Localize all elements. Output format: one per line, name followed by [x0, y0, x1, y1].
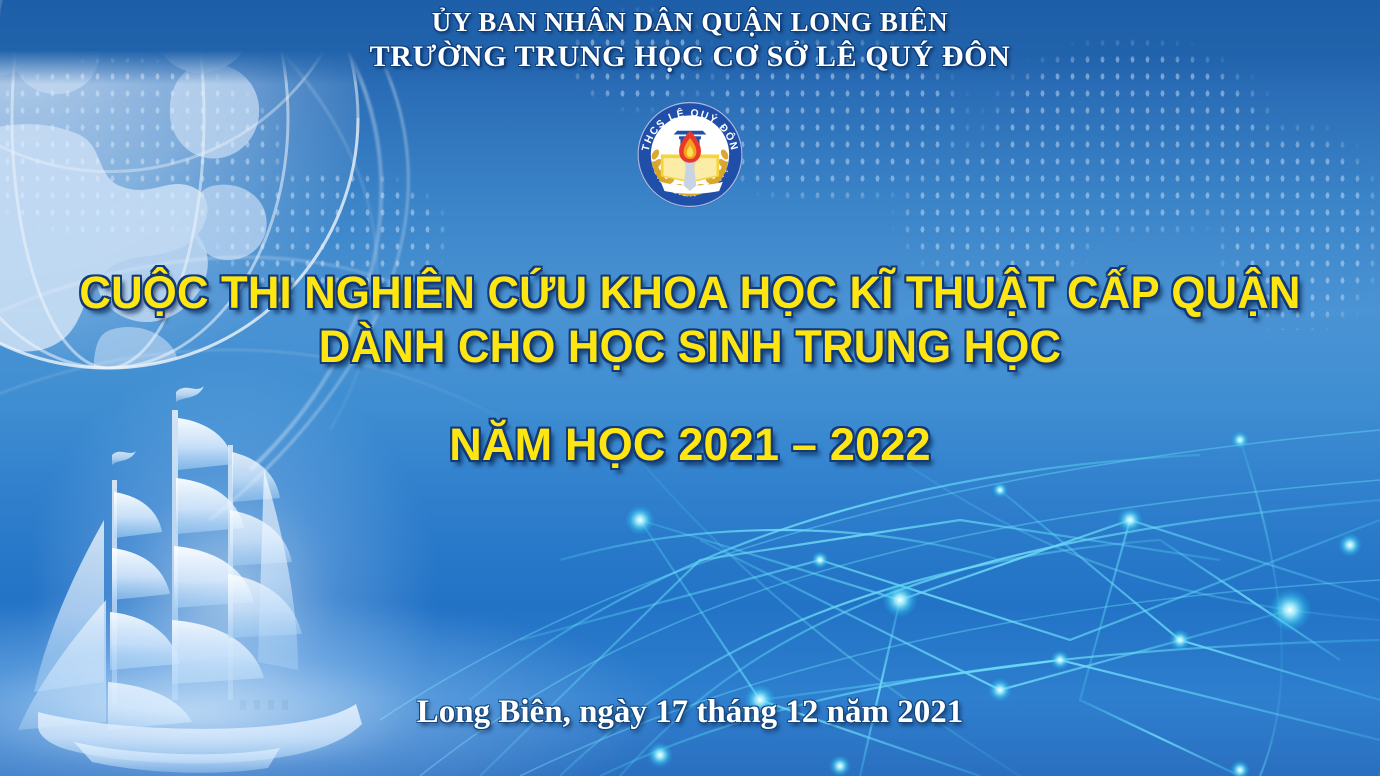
header: ỦY BAN NHÂN DÂN QUẬN LONG BIÊN TRƯỜNG TR… [0, 6, 1380, 75]
bottom-light-streak [0, 586, 700, 776]
header-line-2: TRƯỜNG TRUNG HỌC CƠ SỞ LÊ QUÝ ĐÔN [0, 39, 1380, 75]
school-emblem: THCS LÊ QUÝ ĐÔN LONG BIÊN- HÀ NỘI [628, 98, 752, 211]
title-line-1: CUỘC THI NGHIÊN CỨU KHOA HỌC KĨ THUẬT CẤ… [21, 266, 1360, 320]
title-block: CUỘC THI NGHIÊN CỨU KHOA HỌC KĨ THUẬT CẤ… [0, 266, 1380, 472]
title-line-3: NĂM HỌC 2021 – 2022 [0, 418, 1380, 472]
banner-canvas: ỦY BAN NHÂN DÂN QUẬN LONG BIÊN TRƯỜNG TR… [0, 0, 1380, 776]
header-line-1: ỦY BAN NHÂN DÂN QUẬN LONG BIÊN [0, 6, 1380, 39]
dateline: Long Biên, ngày 17 tháng 12 năm 2021 [0, 694, 1380, 731]
title-line-2: DÀNH CHO HỌC SINH TRUNG HỌC [21, 320, 1360, 374]
